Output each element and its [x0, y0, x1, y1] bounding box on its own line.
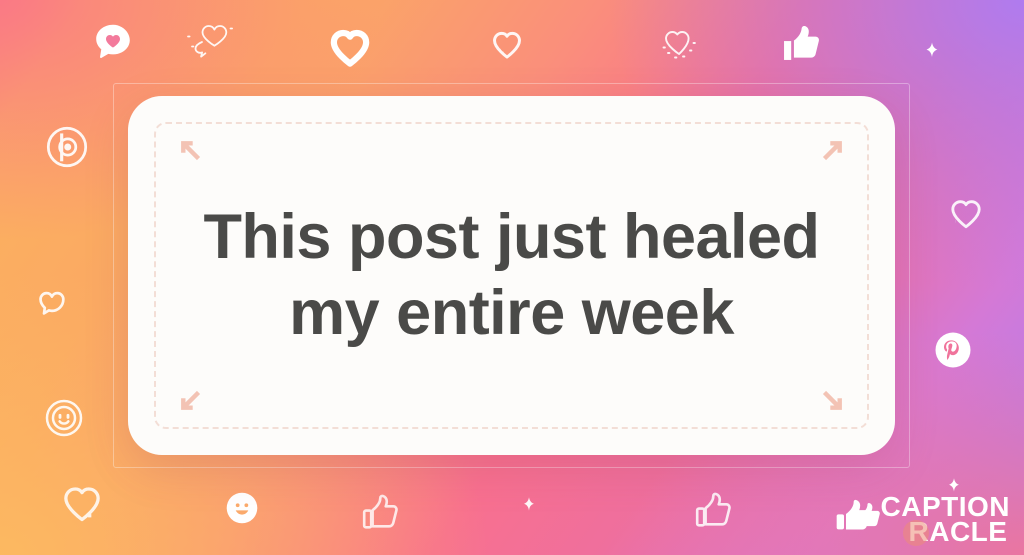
quote-card: This post just healed my entire week — [128, 96, 895, 455]
quote-text: This post just healed my entire week — [128, 199, 895, 353]
arrow-bottom-left-icon — [174, 383, 208, 417]
quote-line-1: This post just healed — [182, 199, 841, 276]
arrow-top-right-icon — [815, 134, 849, 168]
brand-logo: CAPTION RACLE — [834, 494, 1011, 546]
logo-line-2: RACLE — [881, 519, 1011, 545]
logo-wordmark: CAPTION RACLE — [881, 494, 1011, 546]
quote-line-2: my entire week — [182, 276, 841, 353]
logo-star-icon — [943, 476, 965, 498]
arrow-top-left-icon — [174, 134, 208, 168]
logo-o-ghost — [903, 520, 929, 546]
social-graphic-canvas: This post just healed my entire week CAP… — [0, 0, 1024, 555]
arrow-bottom-right-icon — [815, 383, 849, 417]
logo-thumbs-up-icon — [834, 496, 874, 536]
